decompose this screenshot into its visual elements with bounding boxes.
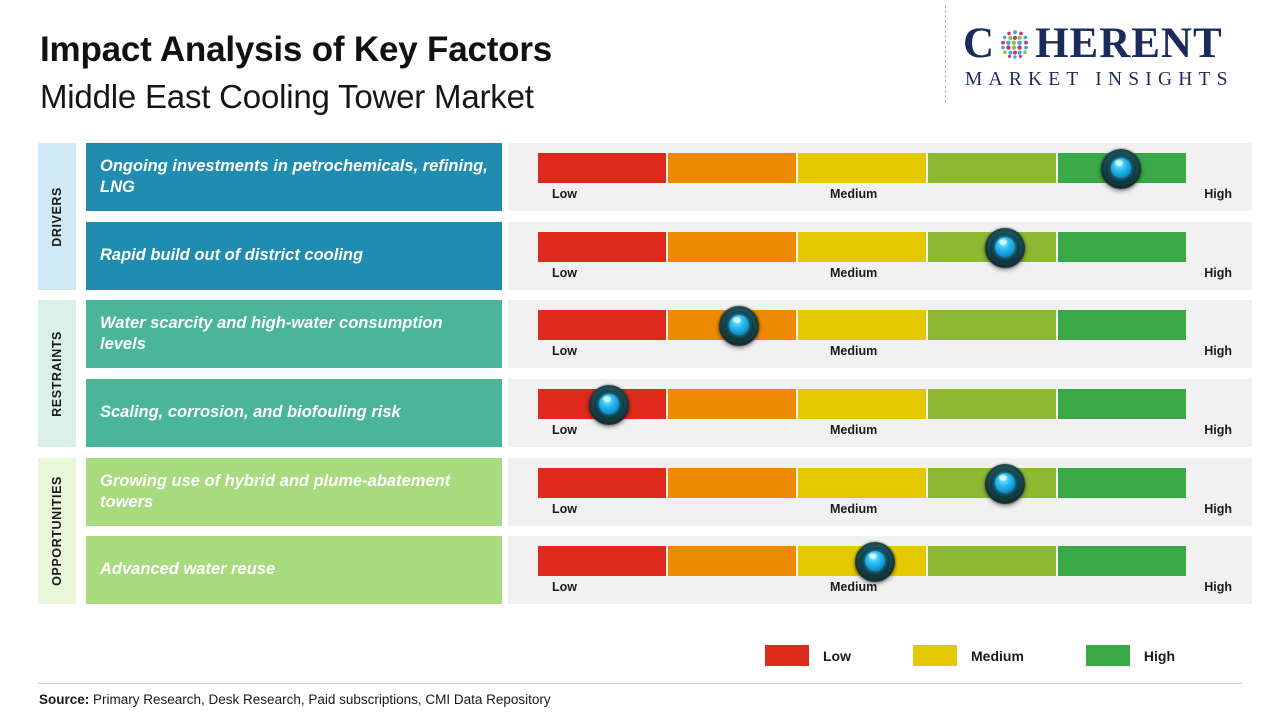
- impact-marker[interactable]: [855, 542, 895, 582]
- source-prefix: Source:: [39, 692, 89, 707]
- category-drivers: DRIVERS: [38, 143, 76, 290]
- gauge-segment-5: [1058, 546, 1186, 576]
- gauge-segment-4: [928, 310, 1056, 340]
- gauge-segment-1: [538, 232, 666, 262]
- gauge-segment-1: [538, 468, 666, 498]
- scale-label-low: Low: [552, 580, 577, 594]
- gauge-segment-5: [1058, 389, 1186, 419]
- gauge-segment-4: [928, 389, 1056, 419]
- gauge-segment-3: [798, 232, 926, 262]
- factor-label: Water scarcity and high-water consumptio…: [100, 313, 488, 355]
- logo-wordmark: C: [963, 22, 1263, 65]
- impact-gauge-bar: [538, 232, 1186, 262]
- gauge-scale-labels: Low Medium High: [538, 423, 1232, 441]
- scale-label-high: High: [1204, 266, 1232, 280]
- factor-box: Water scarcity and high-water consumptio…: [86, 300, 502, 368]
- marker-highlight: [999, 239, 1007, 245]
- logo-letters-herent: HERENT: [1035, 22, 1223, 65]
- gauge-segment-2: [668, 153, 796, 183]
- dotted-globe-icon: [997, 26, 1033, 62]
- factor-label: Rapid build out of district cooling: [100, 245, 363, 266]
- gauge-segment-1: [538, 310, 666, 340]
- gauge-scale-labels: Low Medium High: [538, 344, 1232, 362]
- impact-gauge-row: Low Medium High: [508, 536, 1252, 604]
- factor-label: Growing use of hybrid and plume-abatemen…: [100, 471, 488, 513]
- factor-label: Scaling, corrosion, and biofouling risk: [100, 402, 401, 423]
- legend-swatch: [1086, 645, 1130, 666]
- impact-gauge-bar: [538, 468, 1186, 498]
- category-opportunities: OPPORTUNITIES: [38, 458, 76, 604]
- slide-canvas: Impact Analysis of Key Factors Middle Ea…: [0, 0, 1280, 720]
- impact-marker[interactable]: [1101, 149, 1141, 189]
- impact-gauge-row: Low Medium High: [508, 222, 1252, 290]
- logo-tagline: MARKET INSIGHTS: [965, 69, 1263, 91]
- legend-label: Low: [823, 648, 851, 664]
- gauge-scale-labels: Low Medium High: [538, 502, 1232, 520]
- scale-label-medium: Medium: [830, 344, 877, 358]
- impact-marker[interactable]: [985, 464, 1025, 504]
- gauge-segment-1: [538, 546, 666, 576]
- factor-box: Growing use of hybrid and plume-abatemen…: [86, 458, 502, 526]
- gauge-segment-2: [668, 468, 796, 498]
- gauge-segment-5: [1058, 468, 1186, 498]
- scale-label-low: Low: [552, 187, 577, 201]
- factor-label: Ongoing investments in petrochemicals, r…: [100, 156, 488, 198]
- page-title: Impact Analysis of Key Factors: [40, 30, 552, 70]
- legend-item-low: Low: [765, 645, 851, 666]
- scale-label-medium: Medium: [830, 580, 877, 594]
- legend: Low Medium High: [765, 645, 1175, 666]
- marker-highlight: [999, 475, 1007, 481]
- scale-label-low: Low: [552, 423, 577, 437]
- gauge-segment-2: [668, 546, 796, 576]
- category-restraints: RESTRAINTS: [38, 300, 76, 447]
- legend-label: High: [1144, 648, 1175, 664]
- factor-box: Ongoing investments in petrochemicals, r…: [86, 143, 502, 211]
- scale-label-medium: Medium: [830, 423, 877, 437]
- scale-label-low: Low: [552, 502, 577, 516]
- scale-label-high: High: [1204, 502, 1232, 516]
- scale-label-medium: Medium: [830, 266, 877, 280]
- gauge-segment-3: [798, 310, 926, 340]
- source-note: Source: Primary Research, Desk Research,…: [39, 692, 551, 707]
- gauge-scale-labels: Low Medium High: [538, 187, 1232, 205]
- gauge-segment-1: [538, 153, 666, 183]
- gauge-segment-2: [668, 232, 796, 262]
- scale-label-medium: Medium: [830, 502, 877, 516]
- scale-label-high: High: [1204, 423, 1232, 437]
- category-label: OPPORTUNITIES: [50, 476, 64, 586]
- category-label: RESTRAINTS: [50, 331, 64, 417]
- impact-gauge-bar: [538, 310, 1186, 340]
- scale-label-high: High: [1204, 187, 1232, 201]
- factor-label: Advanced water reuse: [100, 559, 275, 580]
- impact-marker[interactable]: [719, 306, 759, 346]
- factor-box: Rapid build out of district cooling: [86, 222, 502, 290]
- legend-swatch: [913, 645, 957, 666]
- gauge-segment-5: [1058, 310, 1186, 340]
- marker-highlight: [869, 553, 877, 559]
- scale-label-medium: Medium: [830, 187, 877, 201]
- footer-divider: [38, 683, 1242, 684]
- impact-gauge-row: Low Medium High: [508, 458, 1252, 526]
- title-block: Impact Analysis of Key Factors Middle Ea…: [40, 30, 552, 117]
- impact-marker[interactable]: [985, 228, 1025, 268]
- legend-item-medium: Medium: [913, 645, 1024, 666]
- scale-label-low: Low: [552, 266, 577, 280]
- gauge-segment-4: [928, 153, 1056, 183]
- marker-highlight: [733, 317, 741, 323]
- gauge-scale-labels: Low Medium High: [538, 266, 1232, 284]
- factor-box: Advanced water reuse: [86, 536, 502, 604]
- legend-item-high: High: [1086, 645, 1175, 666]
- category-label: DRIVERS: [50, 187, 64, 247]
- legend-swatch: [765, 645, 809, 666]
- logo-letter-c: C: [963, 22, 995, 65]
- impact-gauge-row: Low Medium High: [508, 379, 1252, 447]
- factor-box: Scaling, corrosion, and biofouling risk: [86, 379, 502, 447]
- impact-gauge-row: Low Medium High: [508, 143, 1252, 211]
- legend-label: Medium: [971, 648, 1024, 664]
- source-text: Primary Research, Desk Research, Paid su…: [89, 692, 550, 707]
- impact-marker[interactable]: [589, 385, 629, 425]
- page-subtitle: Middle East Cooling Tower Market: [40, 77, 552, 117]
- impact-gauge-row: Low Medium High: [508, 300, 1252, 368]
- scale-label-high: High: [1204, 580, 1232, 594]
- logo-divider: [945, 5, 946, 103]
- scale-label-high: High: [1204, 344, 1232, 358]
- impact-gauge-bar: [538, 389, 1186, 419]
- gauge-segment-3: [798, 468, 926, 498]
- scale-label-low: Low: [552, 344, 577, 358]
- gauge-segment-3: [798, 389, 926, 419]
- header: Impact Analysis of Key Factors Middle Ea…: [0, 0, 1280, 130]
- gauge-segment-2: [668, 389, 796, 419]
- company-logo: C: [963, 22, 1263, 91]
- gauge-segment-5: [1058, 232, 1186, 262]
- gauge-segment-4: [928, 546, 1056, 576]
- gauge-segment-3: [798, 153, 926, 183]
- gauge-scale-labels: Low Medium High: [538, 580, 1232, 598]
- impact-gauge-bar: [538, 153, 1186, 183]
